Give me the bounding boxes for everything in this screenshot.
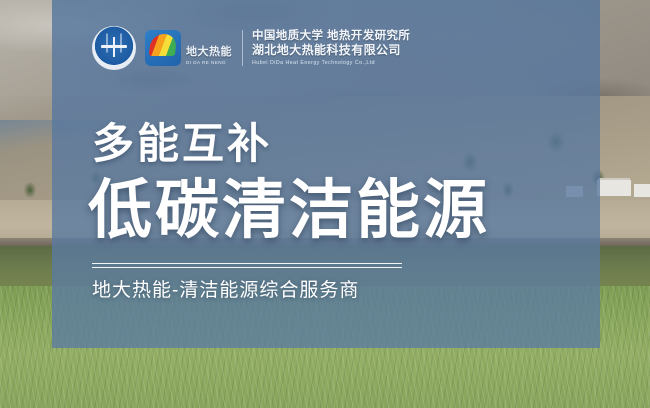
logo-divider <box>242 30 243 66</box>
institute-line-2: 湖北地大热能科技有限公司 <box>252 43 410 58</box>
institute-line-3-en: Hubei DiDa Heat Energy Technology Co.,Lt… <box>252 59 410 67</box>
dida-reneng-flame-logo-icon <box>145 30 181 66</box>
banner-subtitle: 地大热能-清洁能源综合服务商 <box>92 278 359 304</box>
headline-small: 多能互补 <box>92 121 272 167</box>
brand-name-pinyin: DI DA RE NENG <box>186 59 232 66</box>
brand-text-block: 地大热能 DI DA RE NENG <box>186 30 232 66</box>
china-university-of-geosciences-emblem-icon <box>92 26 136 70</box>
institute-text-block: 中国地质大学 地热开发研究所 湖北地大热能科技有限公司 Hubei DiDa H… <box>252 25 410 71</box>
rainbow-flame-icon <box>149 34 177 56</box>
photo-farm-building <box>597 180 631 196</box>
institute-line-1: 中国地质大学 地热开发研究所 <box>252 29 410 43</box>
promo-banner: 地大热能 DI DA RE NENG 中国地质大学 地热开发研究所 湖北地大热能… <box>0 0 650 408</box>
photo-farm-building <box>634 184 650 197</box>
brand-name-cn: 地大热能 <box>186 46 232 58</box>
headline-large: 低碳清洁能源 <box>88 175 490 245</box>
headline-divider-rule <box>92 263 402 268</box>
logo-lockup: 地大热能 DI DA RE NENG 中国地质大学 地热开发研究所 湖北地大热能… <box>92 24 410 72</box>
